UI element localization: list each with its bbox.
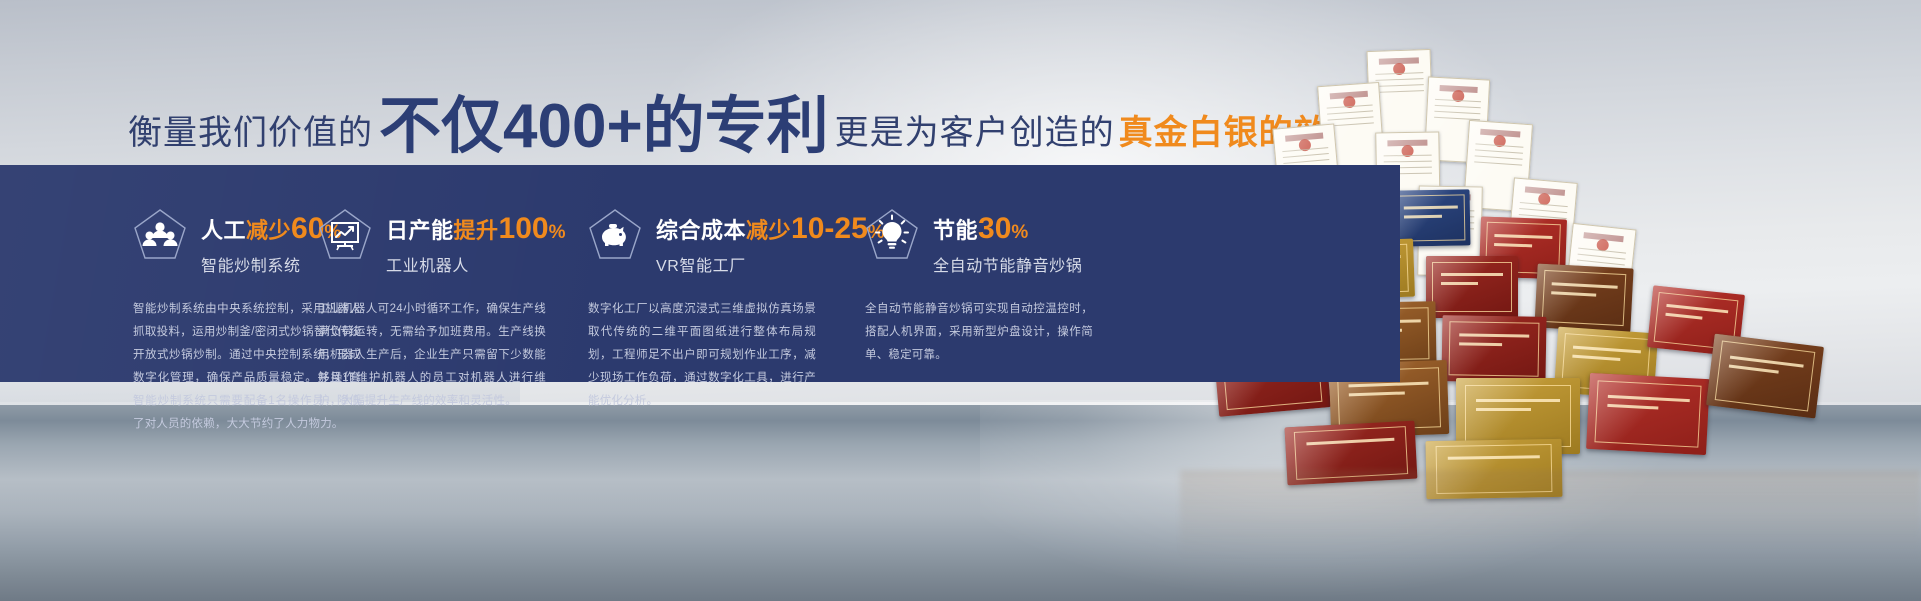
feature-header: 综合成本减少10-25% VR智能工厂 bbox=[588, 212, 865, 276]
feature-title-number: 30 bbox=[978, 212, 1011, 245]
feature-item-1: 人工减少60% 智能炒制系统 智能炒制系统由中央系统控制，采用机器人抓取投料，运… bbox=[0, 165, 310, 382]
feature-columns: 人工减少60% 智能炒制系统 智能炒制系统由中央系统控制，采用机器人抓取投料，运… bbox=[0, 165, 1400, 382]
banner-stage: 衡量我们价值的 不仅400+的专利 更是为客户创造的 真金白银的效益 bbox=[0, 0, 1921, 601]
feature-item-4: 节能30% 全自动节能静音炒锅 全自动节能静音炒锅可实现自动控温控时，搭配人机界… bbox=[865, 165, 1165, 382]
feature-header: 节能30% 全自动节能静音炒锅 bbox=[865, 212, 1165, 276]
feature-title-number: 10-25 bbox=[791, 212, 868, 245]
certificate-reflection bbox=[1180, 470, 1921, 590]
headline: 衡量我们价值的 不仅400+的专利 更是为客户创造的 真金白银的效益 bbox=[128, 72, 1364, 140]
feature-title: 综合成本减少10-25% bbox=[656, 213, 885, 245]
feature-title-highlight: 减少 bbox=[746, 218, 791, 243]
feature-subtitle: 工业机器人 bbox=[386, 252, 566, 276]
chart-board-icon bbox=[318, 208, 372, 262]
feature-title-unit: % bbox=[549, 222, 566, 243]
feature-title: 日产能提升100% bbox=[386, 213, 566, 245]
feature-header: 日产能提升100% 工业机器人 bbox=[318, 212, 580, 276]
feature-subtitle: VR智能工厂 bbox=[656, 252, 885, 276]
feature-titles: 节能30% 全自动节能静音炒锅 bbox=[933, 212, 1082, 276]
feature-title-highlight: 减少 bbox=[246, 218, 291, 243]
feature-item-2: 日产能提升100% 工业机器人 工业机器人可24小时循环工作，确保生产线满负荷运… bbox=[310, 165, 580, 382]
lightbulb-icon bbox=[865, 208, 919, 262]
feature-title-prefix: 人工 bbox=[201, 218, 246, 243]
feature-titles: 综合成本减少10-25% VR智能工厂 bbox=[656, 212, 885, 276]
headline-emphasis: 不仅400+的专利 bbox=[379, 75, 829, 165]
award-plaque bbox=[1441, 315, 1546, 383]
feature-body: 数字化工厂以高度沉浸式三维虚拟仿真场景取代传统的二维平面图纸进行整体布局规划，工… bbox=[588, 298, 816, 413]
piggy-bank-icon bbox=[588, 208, 642, 262]
feature-title-prefix: 节能 bbox=[933, 218, 978, 243]
headline-middle: 更是为客户创造的 bbox=[835, 105, 1115, 154]
headline-lead: 衡量我们价值的 bbox=[128, 105, 373, 154]
feature-title-unit: % bbox=[1011, 222, 1028, 243]
feature-item-3: 综合成本减少10-25% VR智能工厂 数字化工厂以高度沉浸式三维虚拟仿真场景取… bbox=[580, 165, 865, 382]
feature-title: 节能30% bbox=[933, 213, 1082, 245]
feature-title-prefix: 日产能 bbox=[386, 218, 454, 243]
feature-title-number: 100 bbox=[499, 212, 549, 245]
award-plaque bbox=[1426, 256, 1518, 318]
feature-header: 人工减少60% 智能炒制系统 bbox=[133, 212, 310, 276]
feature-panel: 人工减少60% 智能炒制系统 智能炒制系统由中央系统控制，采用机器人抓取投料，运… bbox=[0, 165, 1400, 382]
feature-subtitle: 全自动节能静音炒锅 bbox=[933, 252, 1082, 276]
feature-titles: 日产能提升100% 工业机器人 bbox=[386, 212, 566, 276]
feature-title-prefix: 综合成本 bbox=[656, 218, 746, 243]
feature-body: 全自动节能静音炒锅可实现自动控温控时，搭配人机界面，采用新型炉盘设计，操作简单、… bbox=[865, 298, 1093, 367]
people-group-icon bbox=[133, 208, 187, 262]
award-plaque bbox=[1534, 264, 1633, 333]
award-plaque bbox=[1706, 334, 1824, 419]
feature-title-highlight: 提升 bbox=[454, 218, 499, 243]
feature-body: 工业机器人可24小时循环工作，确保生产线满负荷运转，无需给予加班费用。生产线换用… bbox=[318, 298, 546, 413]
award-plaque bbox=[1586, 373, 1710, 455]
